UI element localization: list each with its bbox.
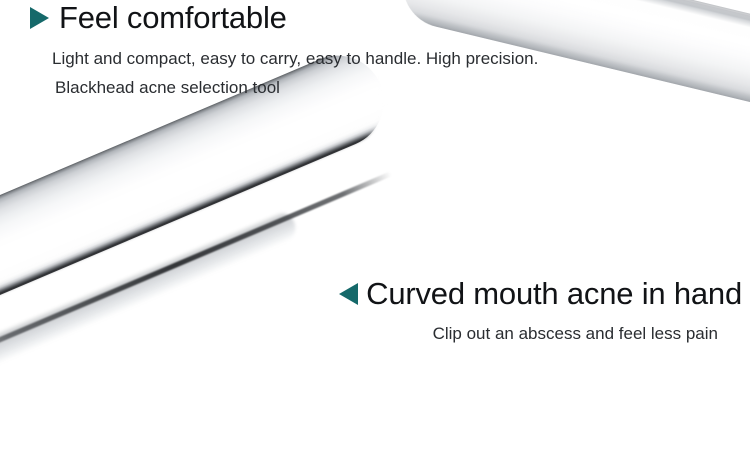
triangle-left-icon: [339, 283, 358, 305]
right-description-line-1: Clip out an abscess and feel less pain: [339, 321, 718, 346]
tweezer-arm-lower-shadow: [0, 208, 300, 404]
triangle-right-icon: [30, 7, 49, 29]
tweezer-blade-contact-line: [0, 171, 392, 379]
top-description-line-2: Blackhead acne selection tool: [55, 75, 620, 100]
top-heading-row: Feel comfortable: [0, 0, 620, 36]
product-feature-banner: Feel comfortable Light and compact, easy…: [0, 0, 750, 470]
feature-block-right: Curved mouth acne in hand Clip out an ab…: [339, 276, 742, 346]
feature-block-top: Feel comfortable Light and compact, easy…: [0, 0, 620, 100]
right-heading-row: Curved mouth acne in hand: [339, 276, 742, 312]
right-heading: Curved mouth acne in hand: [366, 276, 742, 312]
top-description-line-1: Light and compact, easy to carry, easy t…: [52, 46, 620, 71]
top-heading: Feel comfortable: [59, 0, 287, 36]
